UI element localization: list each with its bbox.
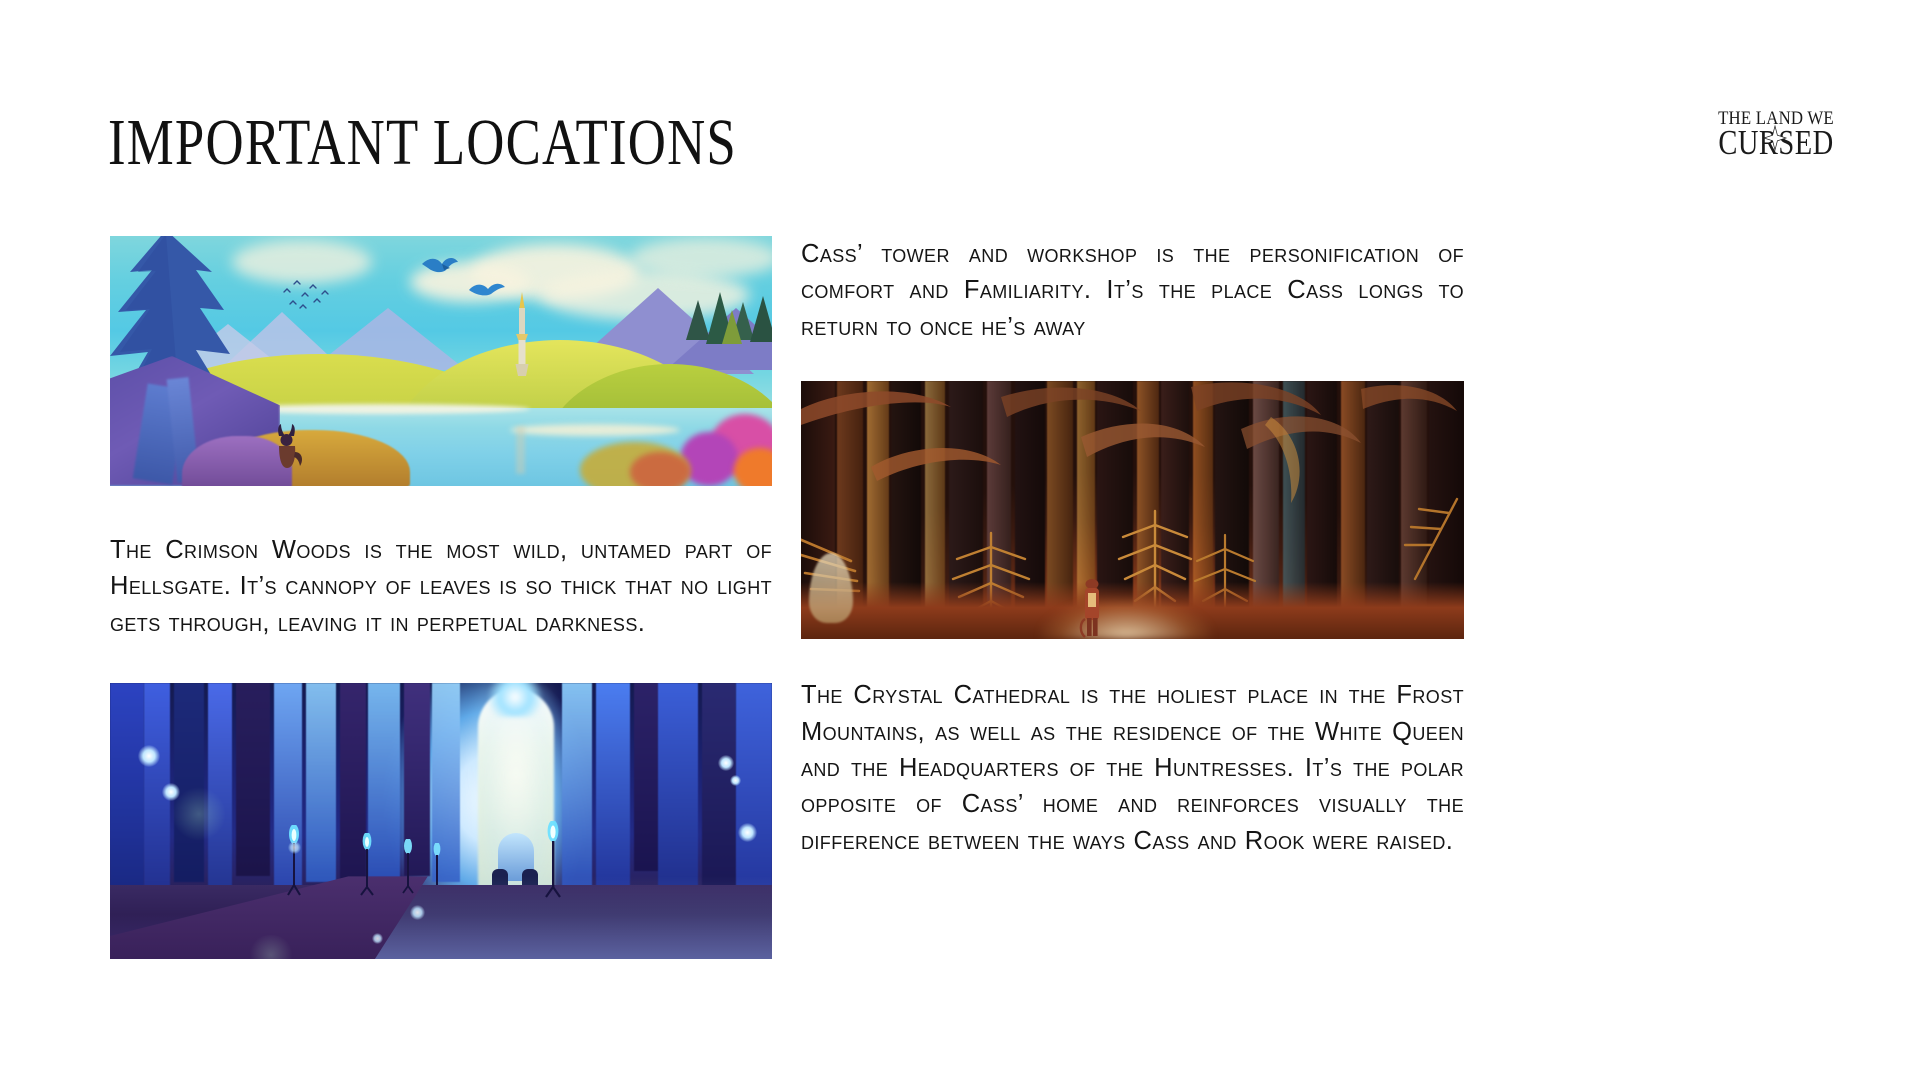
conifer bbox=[750, 296, 772, 342]
conifer bbox=[722, 310, 742, 344]
slide-canvas: IMPORTANT LOCATIONS THE LAND WE CURSED bbox=[0, 0, 1920, 1080]
tower-reflection bbox=[516, 426, 525, 474]
cass-tower-paragraph: Cass’ tower and workshop is the personif… bbox=[801, 236, 1464, 345]
ice-column bbox=[236, 683, 270, 876]
ice-column bbox=[658, 683, 698, 904]
cass-tower-landscape-image bbox=[110, 236, 772, 486]
left-column: The Crimson Woods is the most wild, unta… bbox=[110, 236, 772, 959]
blue-torch bbox=[542, 821, 564, 899]
ice-column bbox=[306, 683, 336, 882]
blue-torch bbox=[430, 843, 444, 893]
ice-column bbox=[634, 683, 660, 871]
lone-figure bbox=[1079, 577, 1105, 639]
fern bbox=[1397, 493, 1464, 585]
ice-column bbox=[208, 683, 232, 887]
brand-logo: THE LAND WE CURSED bbox=[1689, 104, 1864, 170]
flower-cluster bbox=[630, 452, 690, 486]
ice-column bbox=[596, 683, 630, 887]
cloud bbox=[630, 238, 772, 278]
bird-flock bbox=[280, 280, 340, 314]
blue-torch bbox=[400, 839, 416, 895]
ice-column bbox=[110, 683, 144, 887]
crystal-cathedral-image bbox=[110, 683, 772, 959]
ice-column bbox=[174, 683, 204, 882]
ice-column bbox=[562, 683, 592, 887]
bokeh bbox=[172, 787, 226, 841]
dragon bbox=[468, 278, 506, 300]
crimson-woods-paragraph: The Crimson Woods is the most wild, unta… bbox=[110, 532, 772, 641]
flower-cluster bbox=[680, 432, 738, 486]
ground-light-pool bbox=[1040, 598, 1212, 639]
blue-torch bbox=[284, 825, 304, 897]
shoreline bbox=[510, 424, 680, 436]
crystal-chandelier bbox=[482, 683, 548, 717]
tower-spire bbox=[514, 292, 530, 376]
crimson-woods-image bbox=[801, 381, 1464, 639]
page-title: IMPORTANT LOCATIONS bbox=[108, 110, 737, 176]
crystal-cathedral-paragraph: The Crystal Cathedral is the holiest pla… bbox=[801, 677, 1464, 859]
blue-torch bbox=[358, 833, 376, 897]
dragon bbox=[420, 254, 460, 280]
right-column: Cass’ tower and workshop is the personif… bbox=[801, 236, 1464, 859]
